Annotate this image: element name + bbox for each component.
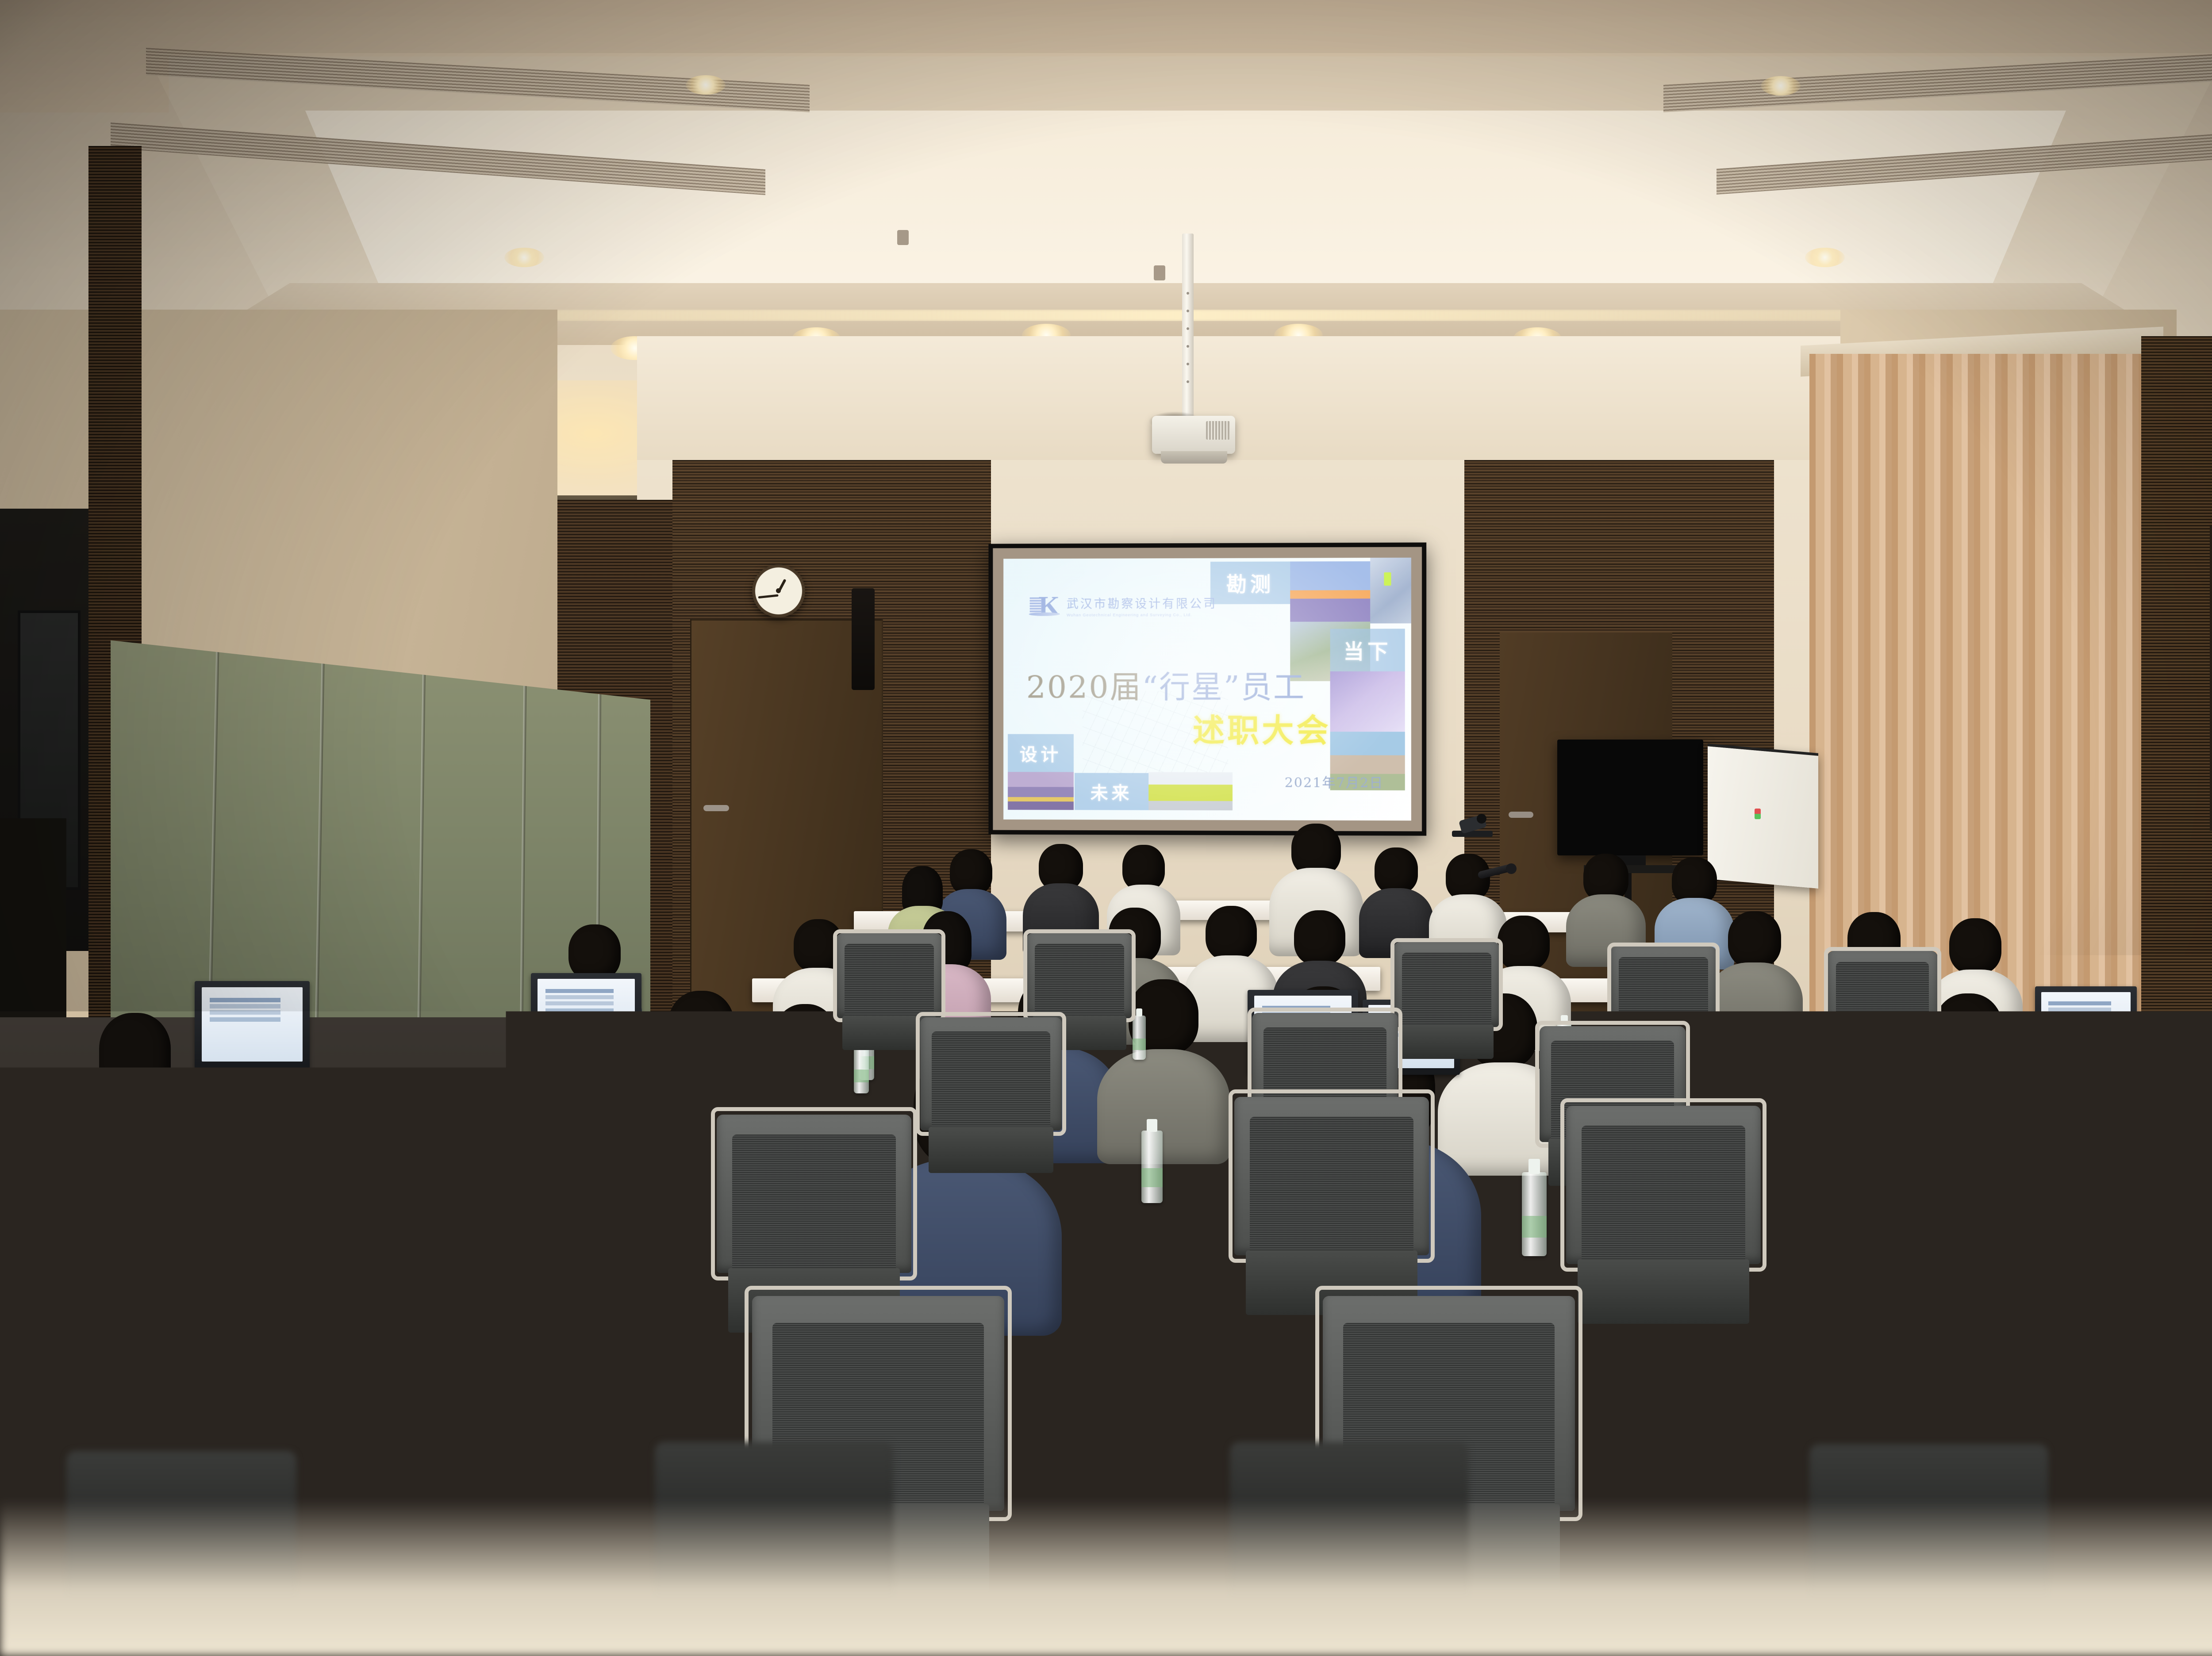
pole-hole-6 xyxy=(1187,380,1189,383)
wall-speaker xyxy=(852,588,875,690)
water-bottle-9[interactable] xyxy=(1141,1131,1163,1203)
presentation-slide: 勘测 当下 设计 未来 K 武汉市勘察设计有限公司 Wuhan Geotechn… xyxy=(1003,558,1411,821)
slide-photo-survey-platform xyxy=(1290,561,1370,622)
slide-title-year: 2020届 xyxy=(1026,669,1142,705)
slide-title-line-2: 述职大会 xyxy=(1193,704,1331,751)
slide-keyword-future: 未来 xyxy=(1075,773,1148,810)
company-logo-mark-icon: K xyxy=(1029,593,1061,619)
slide-photo-worker-highvis xyxy=(1370,558,1411,624)
sprinkler-head-left xyxy=(897,230,909,245)
meeting-room-photo: 勘测 当下 设计 未来 K 武汉市勘察设计有限公司 Wuhan Geotechn… xyxy=(0,0,2212,1656)
downlight-10 xyxy=(1761,76,1801,96)
attendee-r2-7 xyxy=(1717,911,1793,1049)
front-wall-header xyxy=(637,336,1858,460)
chair-r4-5[interactable] xyxy=(1566,1106,1761,1353)
microphone-head-icon xyxy=(1506,863,1517,874)
slide-photo-field-team xyxy=(1148,772,1233,810)
downlight-8 xyxy=(1805,248,1845,267)
chair-r3-2[interactable] xyxy=(920,1017,1062,1194)
pole-hole-3 xyxy=(1187,327,1189,330)
panel-seam-3 xyxy=(417,615,426,1039)
pole-hole-2 xyxy=(1187,310,1189,312)
pole-hole-4 xyxy=(1187,345,1189,348)
water-bottle-2[interactable] xyxy=(1133,1016,1146,1060)
wood-panel-wall-far-right xyxy=(2141,336,2212,1088)
pole-hole-1 xyxy=(1187,292,1189,295)
downlight-9 xyxy=(686,75,726,95)
slide-photo-night-road xyxy=(1008,772,1074,810)
foreground-table-edge xyxy=(0,1499,2212,1656)
camera-lens-icon xyxy=(1477,814,1486,824)
panel-seam-1 xyxy=(208,615,220,1039)
clock-center-pin xyxy=(776,588,781,593)
slide-keyword-survey: 勘测 xyxy=(1210,561,1290,604)
camera-mount-bar xyxy=(1452,831,1493,837)
chair-r3-5[interactable] xyxy=(1836,1031,1982,1212)
downlight-7 xyxy=(504,248,544,267)
door-handle-right[interactable] xyxy=(1509,812,1533,818)
slide-title-quoted: “行星”员工 xyxy=(1142,669,1306,705)
company-name-en: Wuhan Geotechnical Engineering and Surve… xyxy=(1067,613,1217,617)
chair-r4-6[interactable] xyxy=(2190,1115,2212,1362)
slide-company-logo: K 武汉市勘察设计有限公司 Wuhan Geotechnical Enginee… xyxy=(1029,593,1217,619)
mirror-panel xyxy=(2210,526,2212,831)
sprinkler-head-center xyxy=(1154,265,1165,280)
projector-lens-housing xyxy=(1161,451,1227,464)
door-handle-left[interactable] xyxy=(703,805,729,811)
flipchart-marker-dot xyxy=(1755,809,1761,819)
projection-screen: 勘测 当下 设计 未来 K 武汉市勘察设计有限公司 Wuhan Geotechn… xyxy=(988,542,1426,836)
projector-vent xyxy=(1206,421,1230,440)
wall-tv-display[interactable] xyxy=(1557,740,1703,855)
panel-seam-2 xyxy=(315,615,326,1039)
slide-date: 2021年7月2日 xyxy=(1285,771,1384,791)
pole-hole-5 xyxy=(1187,363,1189,365)
projector-mount-pole xyxy=(1182,234,1194,419)
company-name-cn: 武汉市勘察设计有限公司 xyxy=(1067,594,1217,612)
slide-photo-bridge xyxy=(1330,671,1405,732)
slide-keyword-present: 当下 xyxy=(1330,629,1405,671)
slide-title-line-1: 2020届“行星”员工 xyxy=(1026,663,1306,707)
slide-keyword-design: 设计 xyxy=(1008,734,1074,772)
laptop-1[interactable] xyxy=(195,981,310,1069)
chair-r2-3[interactable] xyxy=(1394,942,1500,1075)
